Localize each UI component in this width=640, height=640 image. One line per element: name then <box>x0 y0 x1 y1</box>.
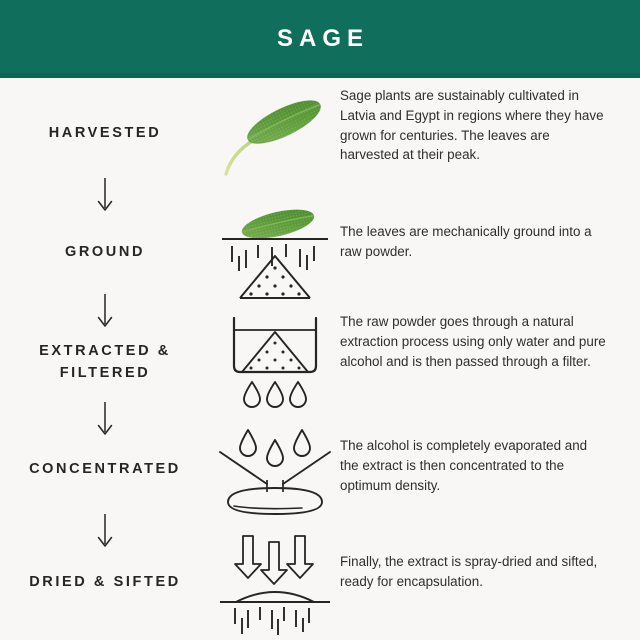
step-dried-sifted: DRIED & SIFTED <box>0 530 640 640</box>
step-dried-sifted-label: DRIED & SIFTED <box>29 572 181 594</box>
step-extracted-text-cell: The raw powder goes through a natural ex… <box>340 310 640 371</box>
step-concentrated-label-cell: CONCENTRATED <box>0 422 210 518</box>
step-concentrated-icon-cell <box>210 422 340 518</box>
step-ground-text-cell: The leaves are mechanically ground into … <box>340 198 640 262</box>
step-dried-text-cell: Finally, the extract is spray-dried and … <box>340 530 640 592</box>
step-ground-label: GROUND <box>65 242 145 264</box>
step-extracted-filtered-label: EXTRACTED & FILTERED <box>0 341 210 385</box>
grinding-leaf-to-powder-icon <box>210 198 340 310</box>
step-concentrated-label: CONCENTRATED <box>29 459 181 481</box>
process-steps: HARVESTED <box>0 78 640 640</box>
step-dried-label-cell: DRIED & SIFTED <box>0 530 210 636</box>
infographic-page: SAGE HARVESTED <box>0 0 640 640</box>
spray-dryer-sifter-icon <box>210 530 340 640</box>
step-dried-sifted-description: Finally, the extract is spray-dried and … <box>340 552 608 592</box>
page-title: SAGE <box>271 27 369 51</box>
page-header: SAGE <box>0 0 640 78</box>
step-ground-description: The leaves are mechanically ground into … <box>340 222 608 262</box>
step-ground-icon-cell <box>210 198 340 310</box>
step-extracted-icon-cell <box>210 310 340 410</box>
step-harvested-text-cell: Sage plants are sustainably cultivated i… <box>340 86 640 165</box>
step-harvested-description: Sage plants are sustainably cultivated i… <box>340 86 608 165</box>
step-concentrated: CONCENTRATED <box>0 422 640 518</box>
step-harvested-label-cell: HARVESTED <box>0 86 210 182</box>
extraction-vessel-icon <box>210 310 340 410</box>
step-harvested-label: HARVESTED <box>49 123 162 145</box>
step-concentrated-text-cell: The alcohol is completely evaporated and… <box>340 422 640 495</box>
step-harvested: HARVESTED <box>0 86 640 186</box>
step-concentrated-description: The alcohol is completely evaporated and… <box>340 436 608 495</box>
step-dried-icon-cell <box>210 530 340 640</box>
step-extracted-filtered-description: The raw powder goes through a natural ex… <box>340 312 608 371</box>
evaporation-dish-icon <box>210 422 340 518</box>
sage-leaf-icon <box>210 86 340 186</box>
step-harvested-icon-cell <box>210 86 340 186</box>
